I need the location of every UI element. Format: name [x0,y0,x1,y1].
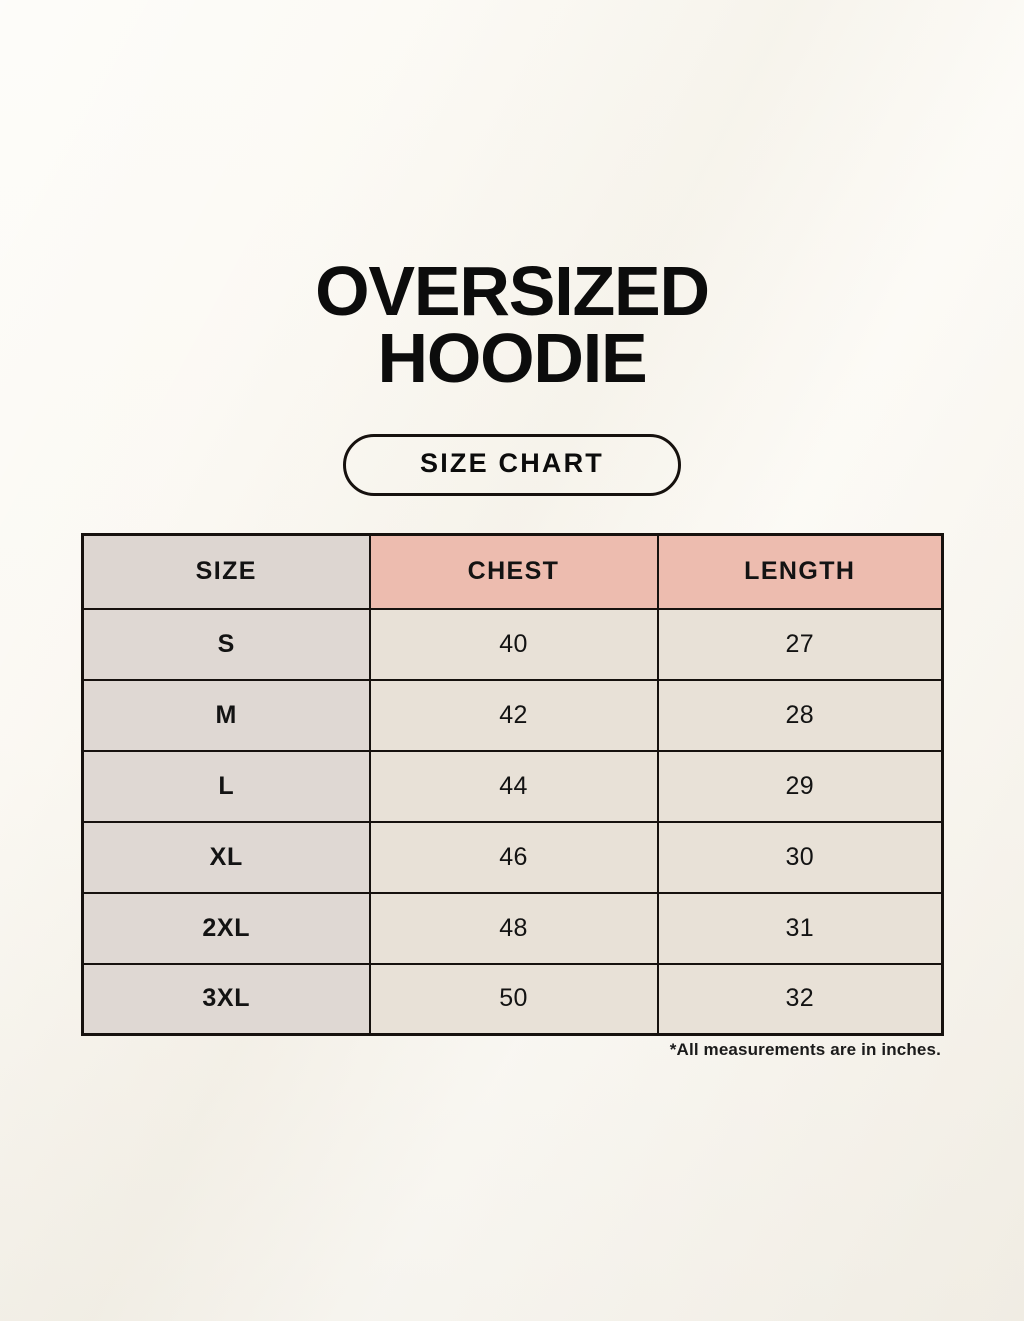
cell-chest: 46 [370,822,658,893]
cell-length: 27 [658,609,943,680]
table-row: M 42 28 [83,680,943,751]
table-row: 2XL 48 31 [83,893,943,964]
cell-chest: 40 [370,609,658,680]
table-header-row: SIZE CHEST LENGTH [83,535,943,609]
cell-size: L [83,751,370,822]
table-row: 3XL 50 32 [83,964,943,1035]
measurement-note: *All measurements are in inches. [81,1040,941,1060]
cell-chest: 42 [370,680,658,751]
cell-size: S [83,609,370,680]
table-row: L 44 29 [83,751,943,822]
cell-length: 32 [658,964,943,1035]
size-chart-badge: SIZE CHART [343,434,681,496]
size-chart-badge-container: SIZE CHART [0,434,1024,496]
cell-chest: 50 [370,964,658,1035]
cell-length: 31 [658,893,943,964]
cell-length: 29 [658,751,943,822]
page-title-text: OVERSIZED HOODIE [0,258,1024,391]
size-chart-page: OVERSIZED HOODIE SIZE CHART SIZE CHEST L… [0,0,1024,1321]
size-table-container: SIZE CHEST LENGTH S 40 27 M 42 28 L [81,533,941,1036]
size-table-header: SIZE CHEST LENGTH [83,535,943,609]
column-header-length: LENGTH [658,535,943,609]
cell-chest: 48 [370,893,658,964]
table-row: S 40 27 [83,609,943,680]
table-row: XL 46 30 [83,822,943,893]
cell-size: XL [83,822,370,893]
size-table-body: S 40 27 M 42 28 L 44 29 XL 46 30 [83,609,943,1035]
cell-length: 28 [658,680,943,751]
cell-size: 2XL [83,893,370,964]
column-header-size: SIZE [83,535,370,609]
cell-size: M [83,680,370,751]
page-title: OVERSIZED HOODIE [0,258,1024,391]
cell-chest: 44 [370,751,658,822]
cell-length: 30 [658,822,943,893]
column-header-chest: CHEST [370,535,658,609]
size-table: SIZE CHEST LENGTH S 40 27 M 42 28 L [81,533,944,1036]
cell-size: 3XL [83,964,370,1035]
